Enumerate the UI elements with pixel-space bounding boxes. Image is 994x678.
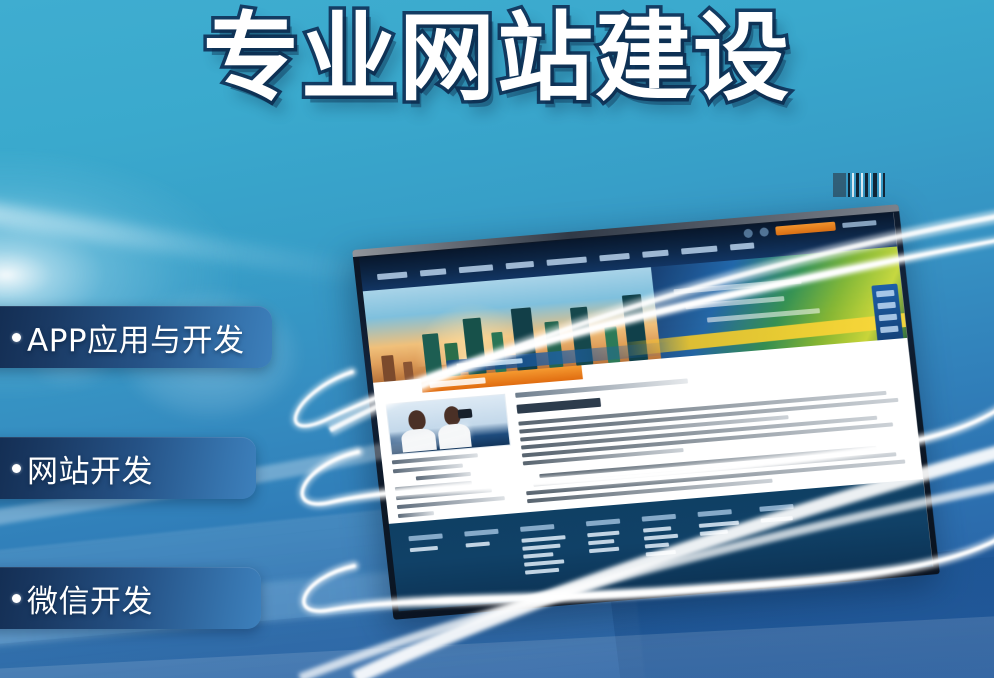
page-title: 专业网站建设 <box>203 8 791 109</box>
footer-link[interactable] <box>466 542 490 548</box>
footer-heading <box>586 519 620 527</box>
bullet-dot-icon <box>12 333 21 342</box>
website-cta-button[interactable] <box>775 222 836 236</box>
nav-item[interactable] <box>642 250 669 258</box>
feature-pill-website[interactable]: 网站开发 <box>0 437 256 499</box>
computer-monitor <box>352 204 940 620</box>
nav-item[interactable] <box>599 253 630 261</box>
footer-link[interactable] <box>646 550 676 556</box>
footer-column <box>697 509 744 572</box>
footer-column <box>464 529 505 591</box>
footer-heading <box>464 529 498 537</box>
footer-link[interactable] <box>589 547 619 553</box>
footer-link[interactable] <box>410 546 438 552</box>
topbar-icon[interactable] <box>743 229 753 239</box>
nav-item[interactable] <box>420 268 447 276</box>
sidebar-link[interactable] <box>392 453 479 464</box>
nav-item[interactable] <box>681 246 718 255</box>
nav-item[interactable] <box>377 272 408 280</box>
footer-link[interactable] <box>523 552 553 558</box>
footer-link[interactable] <box>587 531 619 538</box>
nav-item[interactable] <box>506 261 535 269</box>
footer-column <box>759 504 800 566</box>
sidebar-links <box>392 450 518 518</box>
topbar-icon[interactable] <box>759 227 769 237</box>
sidebar-photo <box>385 394 510 456</box>
article-title <box>516 398 601 414</box>
footer-link[interactable] <box>644 534 678 541</box>
nav-item[interactable] <box>459 264 494 273</box>
poster-canvas: 专业网站建设 <box>0 0 994 678</box>
sidebar-link[interactable] <box>393 464 463 474</box>
footer-heading <box>408 533 442 541</box>
footer-heading <box>697 509 731 517</box>
nav-item[interactable] <box>730 242 755 250</box>
feature-pill-label: APP应用与开发 <box>27 315 245 360</box>
barcode-mark-icon <box>833 173 885 197</box>
headline-block: 专业网站建设 <box>0 8 994 109</box>
footer-link[interactable] <box>522 544 560 551</box>
footer-column <box>586 519 627 581</box>
footer-link[interactable] <box>643 526 671 532</box>
footer-link[interactable] <box>525 568 559 575</box>
footer-column <box>642 514 683 576</box>
footer-link[interactable] <box>521 535 565 543</box>
feature-pill-wechat[interactable]: 微信开发 <box>0 567 261 629</box>
footer-heading <box>520 524 554 532</box>
sidebar-link[interactable] <box>398 511 434 518</box>
footer-link[interactable] <box>700 530 728 536</box>
sidebar-link[interactable] <box>395 481 472 491</box>
sidebar-link[interactable] <box>415 472 470 481</box>
bullet-dot-icon <box>12 464 21 473</box>
footer-link[interactable] <box>645 543 669 549</box>
topbar-link[interactable] <box>842 220 876 228</box>
feature-pill-label: 网站开发 <box>27 446 153 491</box>
footer-link[interactable] <box>761 516 793 523</box>
nav-item[interactable] <box>546 257 587 266</box>
footer-column <box>408 533 449 595</box>
footer-link[interactable] <box>699 521 739 528</box>
footer-heading <box>642 514 676 522</box>
feature-pill-label: 微信开发 <box>27 576 153 621</box>
footer-column <box>520 523 571 586</box>
lens-flare-streak <box>0 199 389 288</box>
footer-link[interactable] <box>588 539 614 545</box>
monitor-screen <box>359 213 933 612</box>
banner-caption-text <box>456 358 522 368</box>
feature-pill-app[interactable]: APP应用与开发 <box>0 306 272 368</box>
footer-link[interactable] <box>524 559 564 566</box>
bullet-dot-icon <box>12 594 21 603</box>
section-highlight-text <box>430 377 486 388</box>
footer-heading <box>759 504 793 512</box>
